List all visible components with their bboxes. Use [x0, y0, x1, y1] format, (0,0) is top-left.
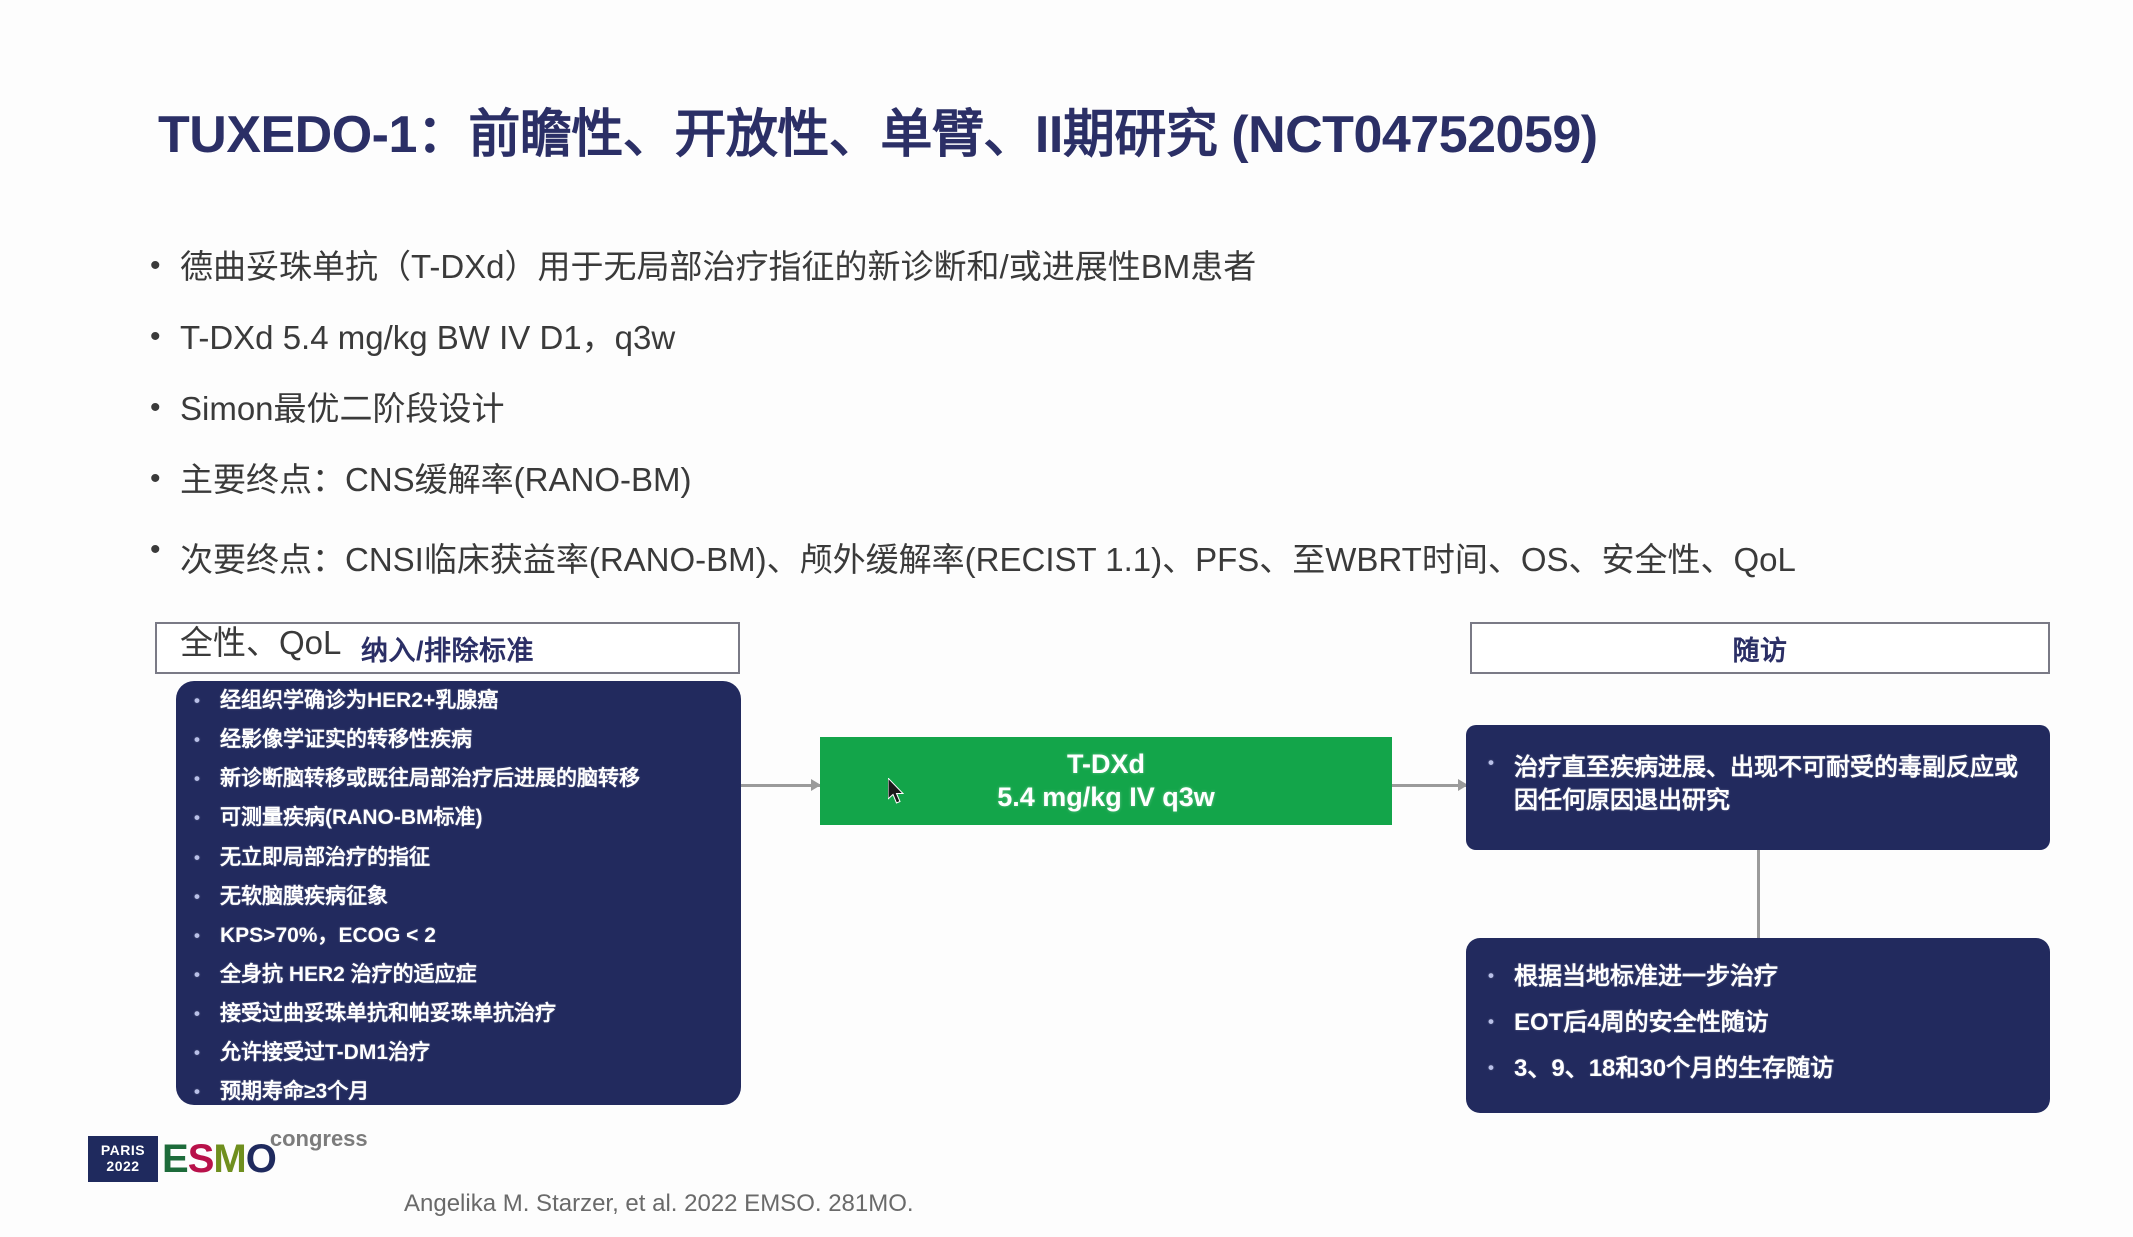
esmo-wordmark: E S M O: [162, 1136, 276, 1182]
logo-congress-label: congress: [270, 1126, 368, 1152]
logo-city-label: PARIS: [101, 1143, 145, 1159]
list-item: • 预期寿命≥3个月: [194, 1080, 731, 1105]
list-item: • 无立即局部治疗的指征: [194, 846, 731, 871]
overlapping-bullet-text: 全性、QoL: [180, 616, 341, 664]
bullet-dot-icon: •: [1488, 964, 1514, 989]
list-item: • 经影像学证实的转移性疾病: [194, 728, 731, 753]
list-item: • 无软脑膜疾病征象: [194, 885, 731, 910]
logo-letter-e: E: [162, 1137, 188, 1182]
logo-year-label: 2022: [106, 1159, 139, 1175]
followup-header-box: 随访: [1470, 622, 2050, 674]
bullet-dot-icon: •: [194, 924, 220, 949]
list-item-text: 3、9、18和30个月的生存随访: [1514, 1056, 2030, 1083]
list-item: • Simon最优二阶段设计: [150, 392, 1970, 425]
list-item-text: 德曲妥珠单抗（T-DXd）用于无局部治疗指征的新诊断和/或进展性BM患者: [180, 250, 1970, 283]
arrow-head-icon: [811, 779, 821, 791]
list-item: • 德曲妥珠单抗（T-DXd）用于无局部治疗指征的新诊断和/或进展性BM患者: [150, 250, 1970, 283]
bullet-dot-icon: •: [194, 767, 220, 792]
paris-2022-badge: PARIS 2022: [88, 1136, 158, 1182]
connector-line-vertical: [1757, 850, 1760, 939]
list-item-text: 根据当地标准进一步治疗: [1514, 964, 2030, 991]
list-item-text: 主要终点：CNS缓解率(RANO-BM): [180, 463, 1970, 496]
bullet-dot-icon: •: [1488, 1010, 1514, 1035]
list-item: • 治疗直至疾病进展、出现不可耐受的毒副反应或因任何原因退出研究: [1488, 751, 2026, 817]
list-item-text: 允许接受过T-DM1治疗: [220, 1041, 731, 1065]
list-item-text: T-DXd 5.4 mg/kg BW IV D1，q3w: [180, 321, 1970, 354]
treatment-drug-label: T-DXd: [1067, 748, 1145, 781]
list-item-text: 治疗直至疾病进展、出现不可耐受的毒副反应或因任何原因退出研究: [1514, 751, 2026, 817]
bullet-dot-icon: •: [150, 392, 180, 424]
presentation-slide: TUXEDO-1：前瞻性、开放性、单臂、II期研究 (NCT04752059) …: [0, 0, 2133, 1237]
further-therapy-list: • 根据当地标准进一步治疗 • EOT后4周的安全性随访 • 3、9、18和30…: [1466, 938, 2050, 1083]
list-item-text: 无立即局部治疗的指征: [220, 846, 731, 870]
bullet-dot-icon: •: [1488, 751, 1514, 776]
list-item-text: 新诊断脑转移或既往局部治疗后进展的脑转移: [220, 767, 731, 791]
list-item-text: 接受过曲妥珠单抗和帕妥珠单抗治疗: [220, 1002, 731, 1026]
bullet-dot-icon: •: [150, 534, 180, 566]
list-item: • T-DXd 5.4 mg/kg BW IV D1，q3w: [150, 321, 1970, 354]
further-therapy-box: • 根据当地标准进一步治疗 • EOT后4周的安全性随访 • 3、9、18和30…: [1466, 938, 2050, 1113]
list-item: • 次要终点：CNSI临床获益率(RANO-BM)、颅外缓解率(RECIST 1…: [150, 534, 1970, 585]
bullet-dot-icon: •: [150, 463, 180, 495]
arrow-head-icon: [1458, 779, 1468, 791]
logo-letter-m: M: [213, 1137, 245, 1182]
list-item-text: 经组织学确诊为HER2+乳腺癌: [220, 689, 731, 713]
bullet-dot-icon: •: [150, 250, 180, 282]
bullet-dot-icon: •: [194, 806, 220, 831]
list-item-text: 无软脑膜疾病征象: [220, 885, 731, 909]
page-title: TUXEDO-1：前瞻性、开放性、单臂、II期研究 (NCT04752059): [158, 92, 1598, 167]
bullet-dot-icon: •: [1488, 1056, 1514, 1081]
bullet-dot-icon: •: [194, 1002, 220, 1027]
list-item-text: 经影像学证实的转移性疾病: [220, 728, 731, 752]
list-item: • 接受过曲妥珠单抗和帕妥珠单抗治疗: [194, 1002, 731, 1027]
connector-line-left: [741, 784, 821, 787]
bullet-dot-icon: •: [194, 963, 220, 988]
list-item: • 主要终点：CNS缓解率(RANO-BM): [150, 463, 1970, 496]
list-item: • 经组织学确诊为HER2+乳腺癌: [194, 689, 731, 714]
esmo-congress-logo: PARIS 2022 E S M O congress: [88, 1136, 368, 1182]
list-item-text: Simon最优二阶段设计: [180, 392, 1970, 425]
list-item: • 3、9、18和30个月的生存随访: [1488, 1056, 2030, 1083]
bullet-dot-icon: •: [150, 321, 180, 353]
list-item: • 根据当地标准进一步治疗: [1488, 964, 2030, 991]
bullet-dot-icon: •: [194, 1080, 220, 1105]
list-item-text: 可测量疾病(RANO-BM标准): [220, 806, 731, 830]
bullet-dot-icon: •: [194, 728, 220, 753]
list-item: • 可测量疾病(RANO-BM标准): [194, 806, 731, 831]
logo-letter-s: S: [188, 1137, 214, 1182]
list-item: • KPS>70%，ECOG < 2: [194, 924, 731, 949]
treatment-dose-label: 5.4 mg/kg IV q3w: [997, 781, 1215, 814]
bullet-dot-icon: •: [194, 885, 220, 910]
bullet-dot-icon: •: [194, 846, 220, 871]
treatment-duration-box: • 治疗直至疾病进展、出现不可耐受的毒副反应或因任何原因退出研究: [1466, 725, 2050, 850]
list-item-text: KPS>70%，ECOG < 2: [220, 924, 731, 948]
connector-line-right: [1392, 784, 1468, 787]
list-item-text: 预期寿命≥3个月: [220, 1080, 731, 1104]
bullet-dot-icon: •: [194, 689, 220, 714]
list-item: • 全身抗 HER2 治疗的适应症: [194, 963, 731, 988]
inclusion-exclusion-criteria-box: • 经组织学确诊为HER2+乳腺癌 • 经影像学证实的转移性疾病 • 新诊断脑转…: [176, 681, 741, 1105]
citation-text: Angelika M. Starzer, et al. 2022 EMSO. 2…: [404, 1190, 914, 1218]
bullet-list: • 德曲妥珠单抗（T-DXd）用于无局部治疗指征的新诊断和/或进展性BM患者 •…: [150, 250, 1970, 623]
list-item-text: 全身抗 HER2 治疗的适应症: [220, 963, 731, 987]
list-item-text: EOT后4周的安全性随访: [1514, 1010, 2030, 1037]
list-item: • 新诊断脑转移或既往局部治疗后进展的脑转移: [194, 767, 731, 792]
bullet-dot-icon: •: [194, 1041, 220, 1066]
list-item-text: 次要终点：CNSI临床获益率(RANO-BM)、颅外缓解率(RECIST 1.1…: [180, 534, 1970, 585]
list-item: • EOT后4周的安全性随访: [1488, 1010, 2030, 1037]
list-item: • 允许接受过T-DM1治疗: [194, 1041, 731, 1066]
treatment-note-list: • 治疗直至疾病进展、出现不可耐受的毒副反应或因任何原因退出研究: [1466, 725, 2050, 817]
criteria-list: • 经组织学确诊为HER2+乳腺癌 • 经影像学证实的转移性疾病 • 新诊断脑转…: [176, 681, 741, 1105]
